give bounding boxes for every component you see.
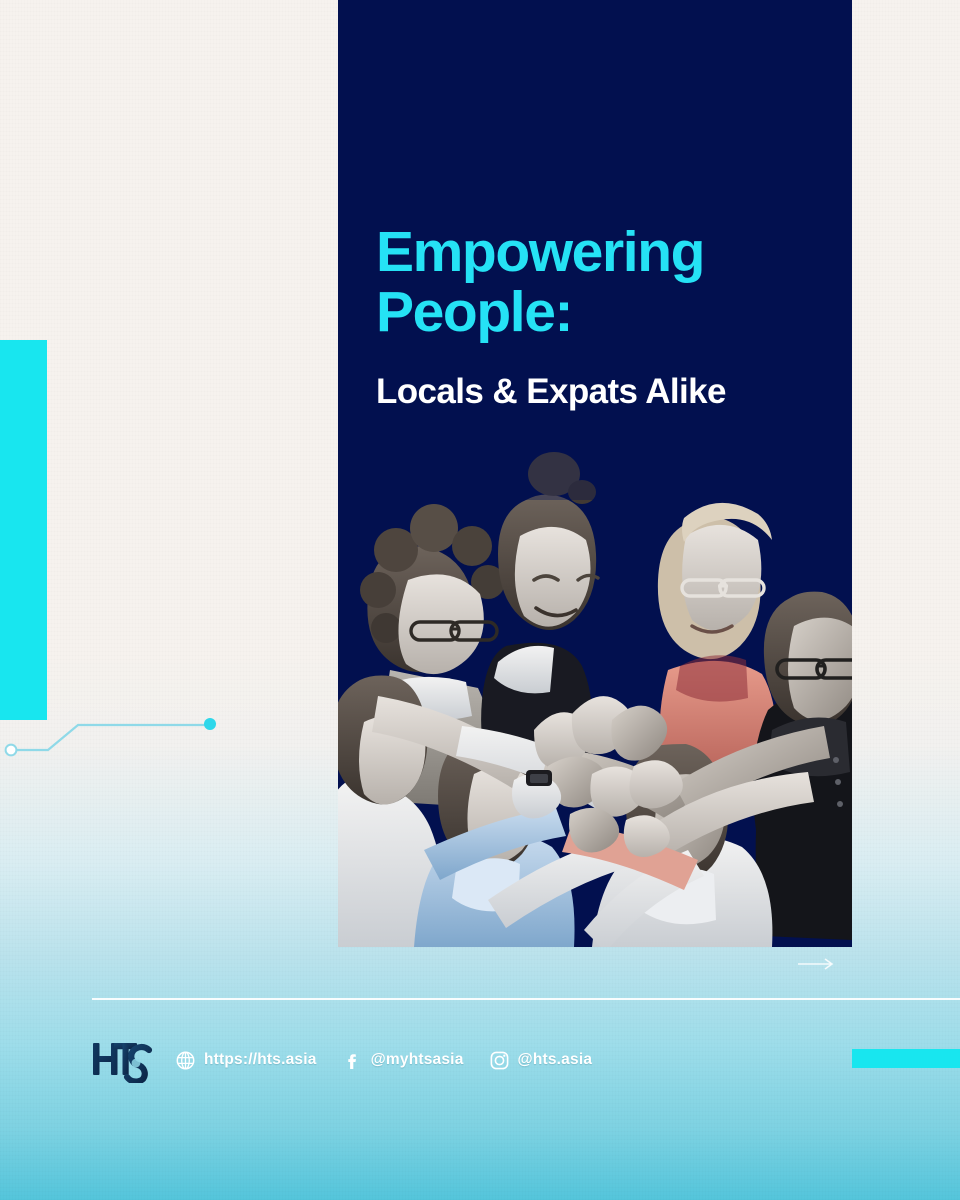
hero-panel: Empowering People: Locals & Expats Alike <box>338 0 852 947</box>
left-cyan-accent-block <box>0 340 47 720</box>
arrow-right-icon <box>798 957 838 971</box>
bottom-right-cyan-accent-bar <box>852 1049 960 1068</box>
footer-link-website[interactable]: https://hts.asia <box>176 1051 317 1070</box>
footer-link-facebook-label: @myhtsasia <box>371 1051 464 1069</box>
globe-icon <box>176 1051 195 1070</box>
circuit-trace-decoration <box>0 705 230 765</box>
page-subtitle: Locals & Expats Alike <box>376 372 826 412</box>
poster-canvas: Empowering People: Locals & Expats Alike <box>0 0 960 1200</box>
footer-link-instagram-label: @hts.asia <box>518 1051 593 1069</box>
title-line-2: People: <box>376 282 816 342</box>
team-hands-photo <box>338 430 852 947</box>
footer-link-facebook[interactable]: @myhtsasia <box>343 1051 464 1070</box>
instagram-icon <box>490 1051 509 1070</box>
title-line-1: Empowering <box>376 222 816 282</box>
hts-logo <box>92 1037 154 1083</box>
footer-link-instagram[interactable]: @hts.asia <box>490 1051 593 1070</box>
footer-link-website-label: https://hts.asia <box>204 1051 317 1069</box>
facebook-icon <box>343 1051 362 1070</box>
footer-bar: https://hts.asia @myhtsasia @hts.asia <box>92 1032 618 1088</box>
page-title: Empowering People: <box>376 222 816 342</box>
footer-divider <box>92 998 960 1000</box>
